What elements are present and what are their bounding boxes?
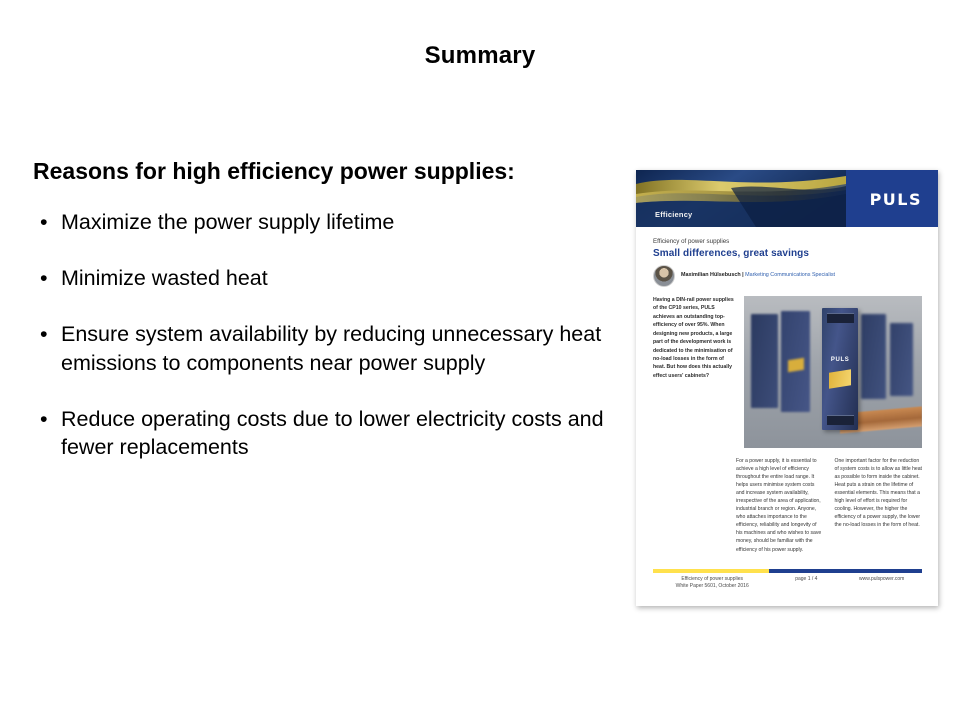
slide-content: Reasons for high efficiency power suppli… [33,158,633,462]
footer-row: Efficiency of power supplies White Paper… [653,576,922,591]
document-body-columns: For a power supply, it is essential to a… [636,448,938,554]
footer-page-number: page 1 / 4 [771,576,841,583]
author-name: Maximilian Hülsebusch [681,272,741,278]
document-header-banner: Efficiency PULS [636,170,938,227]
page-title: Summary [0,42,960,70]
list-item-label: Maximize the power supply lifetime [61,208,633,236]
bullet-marker-icon: • [40,208,48,236]
list-item: • Reduce operating costs due to lower el… [33,405,633,462]
reasons-heading: Reasons for high efficiency power suppli… [33,158,633,186]
power-supply-background-unit [751,314,778,408]
bullet-marker-icon: • [40,320,48,348]
terminal-block-bottom [827,415,854,425]
power-supply-background-unit [890,323,913,396]
document-title: Small differences, great savings [653,248,922,259]
document-kicker: Efficiency of power supplies [653,238,922,245]
list-item: • Minimize wasted heat [33,264,633,292]
terminal-block-top [827,313,854,323]
puls-logo: PULS [870,190,922,209]
power-supply-background-unit [861,314,886,399]
document-footer: Efficiency of power supplies White Paper… [636,569,938,591]
list-item: • Maximize the power supply lifetime [33,208,633,236]
footer-bar-yellow [653,569,769,573]
bullet-list: • Maximize the power supply lifetime • M… [33,208,633,462]
document-intro-row: Having a DIN-rail power supplies of the … [636,296,938,448]
power-supply-background-unit [781,311,809,411]
gold-accent-stripe [788,358,804,373]
document-intro-text: Having a DIN-rail power supplies of the … [653,296,735,448]
list-item: • Ensure system availability by reducing… [33,320,633,377]
bullet-marker-icon: • [40,405,48,433]
footer-website: www.pulspower.com [841,576,922,583]
author-role: Marketing Communications Specialist [745,272,835,278]
power-supply-foreground-unit: PULS [822,308,858,430]
gold-accent-stripe [829,370,851,389]
list-item-label: Minimize wasted heat [61,264,633,292]
document-column-right: One important factor for the reduction o… [835,457,923,554]
product-logo: PULS [831,357,849,363]
footer-doc-title: Efficiency of power supplies [653,576,771,583]
document-title-block: Efficiency of power supplies Small diffe… [636,227,938,287]
whitepaper-thumbnail: Efficiency PULS Efficiency of power supp… [636,170,938,606]
footer-document-info: Efficiency of power supplies White Paper… [653,576,771,591]
byline-separator: | [742,272,744,278]
avatar [653,265,675,287]
footer-color-bar [653,569,922,573]
footer-doc-reference: White Paper 5601, October 2016 [653,583,771,590]
document-section-label: Efficiency [655,210,692,219]
footer-bar-blue [769,569,922,573]
list-item-label: Reduce operating costs due to lower elec… [61,405,633,462]
document-column-left: For a power supply, it is essential to a… [736,457,824,554]
product-photo: PULS [744,296,922,448]
byline-text: Maximilian Hülsebusch | Marketing Commun… [681,272,835,279]
author-byline: Maximilian Hülsebusch | Marketing Commun… [653,265,922,287]
bullet-marker-icon: • [40,264,48,292]
list-item-label: Ensure system availability by reducing u… [61,320,633,377]
